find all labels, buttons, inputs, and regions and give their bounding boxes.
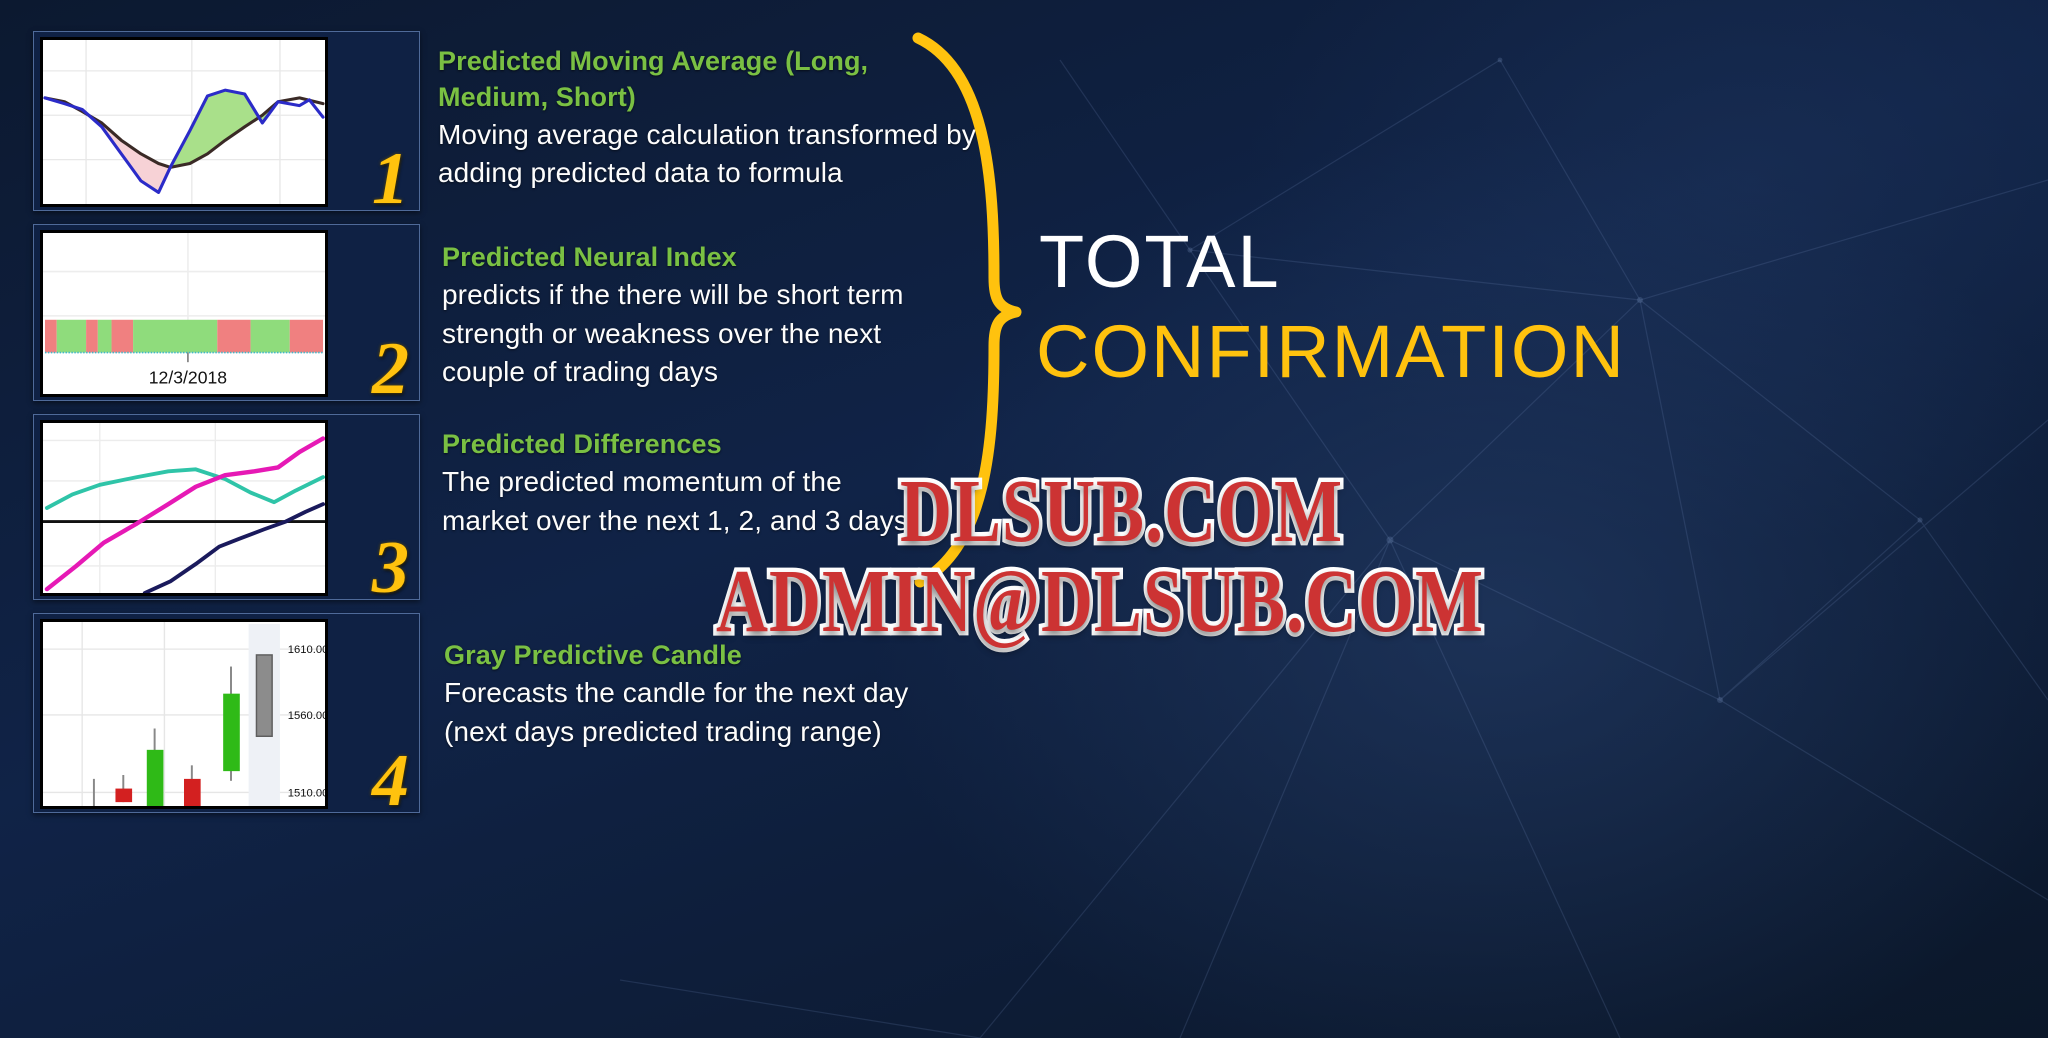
candle-up	[147, 750, 164, 806]
y-tick-0: 1610.00	[288, 644, 325, 656]
chart-card-list: 1	[33, 31, 420, 826]
feature-body-1: Moving average calculation transformed b…	[438, 116, 983, 193]
gray-predicted-candle	[256, 655, 272, 736]
candlestick-plot: 1610.00 1560.00 1510.00	[40, 619, 328, 809]
candlestick-svg: 1610.00 1560.00 1510.00	[43, 622, 325, 806]
candle-down	[115, 789, 132, 803]
feature-body-3: The predicted momentum of the market ove…	[442, 463, 912, 540]
feature-title-1: Predicted Moving Average (Long, Medium, …	[438, 44, 983, 116]
neural-index-svg: 12/3/2018	[43, 233, 325, 394]
feature-block-4: Gray Predictive Candle Forecasts the can…	[444, 638, 944, 751]
feature-body-2: predicts if the there will be short term…	[442, 276, 962, 392]
moving-average-svg	[43, 40, 325, 204]
y-tick-2: 1510.00	[288, 787, 325, 799]
feature-block-3: Predicted Differences The predicted mome…	[442, 427, 912, 540]
feature-block-2: Predicted Neural Index predicts if the t…	[442, 240, 962, 392]
candle-down	[184, 779, 201, 806]
step-number-2: 2	[372, 332, 409, 406]
chart-card-moving-average[interactable]: 1	[33, 31, 420, 211]
watermark-email: ADMIN@DLSUB.COM	[716, 550, 1484, 654]
watermark-site: DLSUB.COM	[900, 460, 1343, 564]
neural-index-plot: 12/3/2018	[40, 230, 328, 397]
feature-title-3: Predicted Differences	[442, 427, 912, 463]
headline-total: TOTAL	[1039, 225, 1281, 299]
neural-index-date-label: 12/3/2018	[149, 368, 227, 388]
step-number-1: 1	[372, 142, 409, 216]
chart-card-gray-predictive-candle[interactable]: 1610.00 1560.00 1510.00 4	[33, 613, 420, 813]
step-number-3: 3	[372, 531, 409, 605]
chart-card-neural-index[interactable]: 12/3/2018 2	[33, 224, 420, 401]
moving-average-plot	[40, 37, 328, 207]
neural-index-bars	[45, 320, 323, 353]
feature-title-2: Predicted Neural Index	[442, 240, 962, 276]
predicted-differences-plot	[40, 420, 328, 596]
y-tick-1: 1560.00	[288, 710, 325, 722]
step-number-4: 4	[372, 744, 409, 818]
headline-confirmation: CONFIRMATION	[1036, 315, 1626, 389]
predicted-differences-svg	[43, 423, 325, 593]
chart-card-predicted-differences[interactable]: 3	[33, 414, 420, 600]
feature-body-4: Forecasts the candle for the next day (n…	[444, 674, 944, 751]
feature-block-1: Predicted Moving Average (Long, Medium, …	[438, 44, 983, 193]
candle-up	[223, 694, 240, 771]
